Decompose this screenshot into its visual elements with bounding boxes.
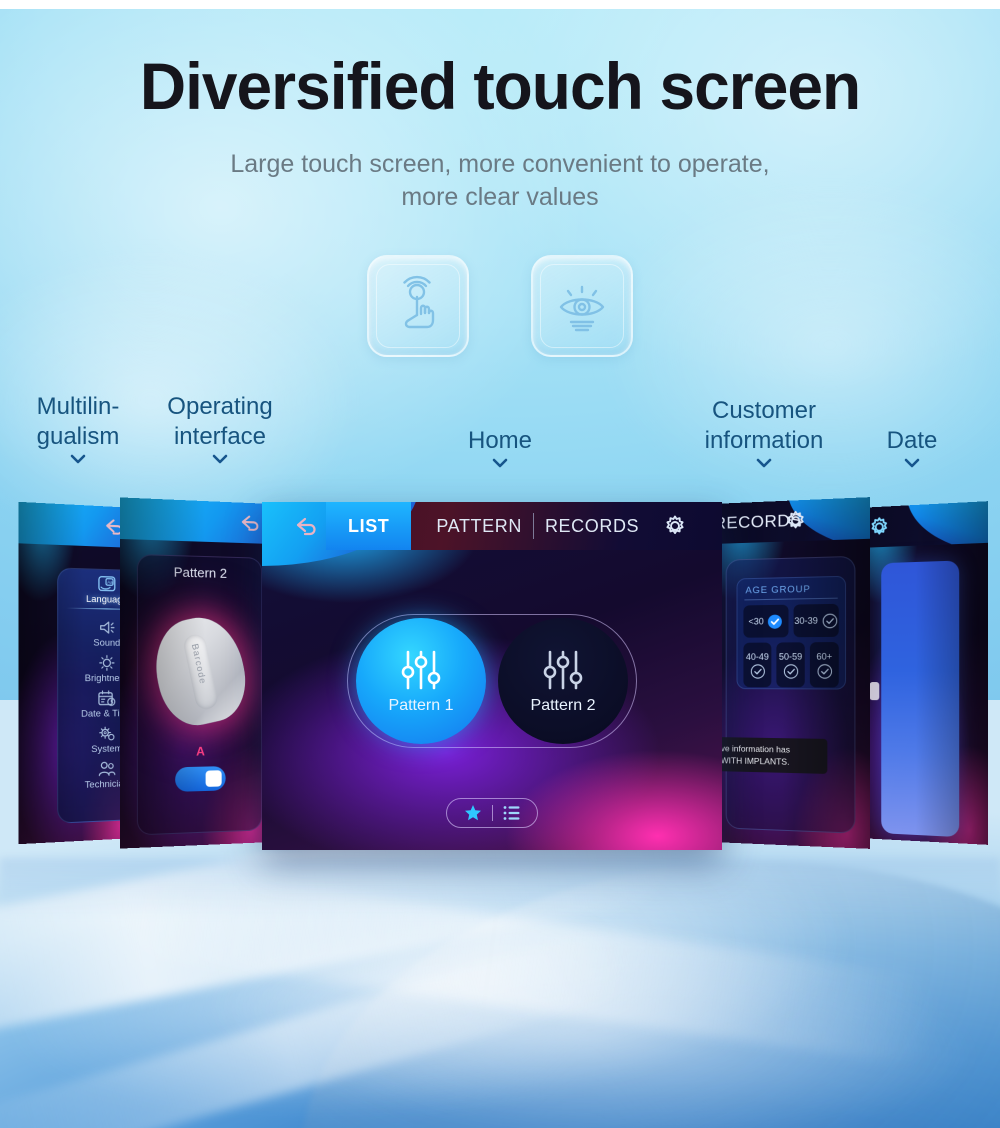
touch-badge [367,255,469,357]
panel-header [858,501,988,548]
main-screen[interactable]: LIST PATTERN RECORDS [262,502,722,850]
check-icon [822,613,838,629]
back-arrow-icon[interactable] [99,514,122,539]
age-option-label: 30-39 [794,615,818,626]
back-arrow-icon[interactable] [235,510,259,535]
tab-label: RECORDS [545,516,639,537]
vision-badge [531,255,633,357]
floor-reflection [0,858,1000,918]
age-option-label: 40-49 [746,651,769,661]
check-icon [817,663,832,678]
tab-label: LIST [348,516,389,537]
speaker-icon [97,619,117,637]
age-group-row-1: <30 30-39 [737,604,845,638]
callout-operating-interface: Operating interface [150,392,290,464]
age-option-40-49[interactable]: 40-49 [743,643,771,688]
chevron-down-icon [904,458,920,468]
callout-line-1: Multilin- [8,392,148,422]
check-icon [750,663,765,678]
header-items: LIST PATTERN RECORDS [262,502,722,550]
panel-right-edge[interactable] [858,501,988,845]
pattern-label: Pattern 2 [531,697,596,715]
calendar-icon [97,689,117,707]
star-icon[interactable] [464,804,482,822]
callout-labels: Multilin- gualism Operating interface Ho… [0,388,1000,478]
panel-records[interactable]: RECORDS AGE GROUP <30 [712,497,870,849]
check-icon [783,663,798,678]
sliders-icon [398,648,444,692]
chevron-down-icon [492,458,508,468]
panel-header [120,497,272,544]
brightness-icon [97,654,117,672]
bottom-toolbar [446,798,538,828]
blue-content-card[interactable] [881,560,959,837]
pattern-label: Pattern 1 [389,697,454,715]
records-card: AGE GROUP <30 30-39 [726,556,856,834]
toolbar-divider [492,805,493,821]
pattern-2-button[interactable]: Pattern 2 [498,618,628,744]
check-selected-icon [768,613,783,628]
gear-icon[interactable] [783,508,807,533]
chevron-down-icon [212,454,228,464]
card-handle [870,682,880,700]
people-icon [97,760,117,779]
callout-line-2: Home [430,426,570,456]
callout-line-2: Date [852,426,972,456]
callout-date: Date [852,426,972,468]
page-subtitle: Large touch screen, more convenient to o… [0,148,1000,214]
callout-line-1: Customer [680,396,848,426]
feature-badges [0,255,1000,357]
device-alert-text: A [138,743,261,760]
callout-multilingualism: Multilin- gualism [8,392,148,464]
panel-header [18,502,136,548]
chevron-down-icon [756,458,772,468]
sidebar-item-label: Sound [93,638,120,649]
pattern-1-button[interactable]: Pattern 1 [356,618,486,744]
device-toggle[interactable] [175,766,226,792]
age-option-label: 60+ [816,651,832,661]
callout-line-1: Operating [150,392,290,422]
back-arrow-icon[interactable] [290,513,316,539]
eye-vision-icon [551,275,613,337]
toggle-knob [206,770,222,787]
subtitle-line-1: Large touch screen, more convenient to o… [230,150,769,178]
panel-pattern-detail[interactable]: Pattern 2 Barcode A [120,497,272,848]
list-icon[interactable] [503,805,521,821]
svg-text:Aa: Aa [107,580,113,585]
gear-icon[interactable] [662,513,688,539]
records-tooltip: ve information has WITH IMPLANTS. [715,737,827,774]
callout-customer-information: Customer information [680,396,848,468]
language-icon: Aa [97,575,117,594]
callout-line-2: gualism [8,422,148,452]
subtitle-line-2: more clear values [0,181,1000,214]
age-option-50-59[interactable]: 50-59 [776,642,804,687]
promo-graphic: Diversified touch screen Large touch scr… [0,0,1000,1128]
sliders-icon [540,648,586,692]
panel-header: RECORDS [712,497,870,544]
touch-hand-icon [387,275,449,337]
pattern-selector: Pattern 1 Pattern 2 [347,614,637,748]
main-header: LIST PATTERN RECORDS [262,502,722,550]
gear-icon[interactable] [868,514,891,539]
device-illustration: Barcode [146,611,253,733]
callout-line-2: interface [150,422,290,452]
callout-home: Home [430,426,570,468]
age-option-60plus[interactable]: 60+ [810,642,839,687]
chevron-down-icon [70,454,86,464]
sidebar-item-label: System [91,743,122,755]
age-option-30-39[interactable]: 30-39 [793,604,839,637]
age-option-label: 50-59 [779,651,802,661]
age-option-label: <30 [748,616,763,626]
age-group-title: AGE GROUP [737,577,845,597]
top-white-strip [0,0,1000,9]
device-title: Pattern 2 [138,563,261,581]
panel-settings[interactable]: Aa Language Sound [18,502,136,844]
device-card: Pattern 2 Barcode A [137,554,262,835]
page-title: Diversified touch screen [15,48,985,124]
system-gear-icon [97,725,117,744]
tooltip-line-2: WITH IMPLANTS. [721,754,821,768]
tab-records[interactable]: RECORDS [534,502,650,550]
age-group-rule [745,598,837,601]
tab-label: PATTERN [436,516,522,537]
tab-pattern[interactable]: PATTERN [425,502,533,550]
age-option-under30[interactable]: <30 [743,605,788,638]
callout-line-2: information [680,426,848,456]
age-group-row-2: 40-49 50-59 60+ [737,637,845,688]
age-group-selector: AGE GROUP <30 30-39 [737,576,847,690]
tab-list[interactable]: LIST [326,502,411,550]
